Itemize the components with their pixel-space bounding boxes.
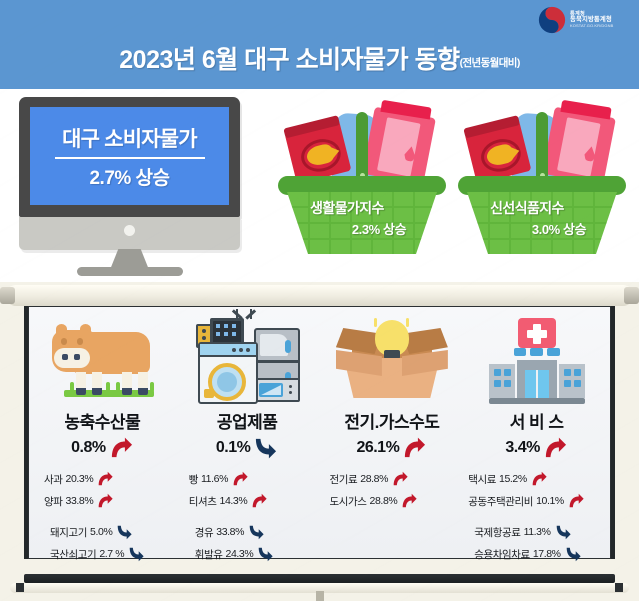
item-value: 14.3%	[220, 495, 248, 507]
milk-carton-icon	[542, 107, 616, 186]
column-value: 0.1%	[216, 439, 250, 457]
item-name: 돼지고기	[50, 525, 87, 540]
monitor-foot	[77, 267, 183, 276]
arrow-up-icon	[250, 492, 268, 510]
column-main-value-row: 26.1%	[320, 435, 465, 461]
list-item: 휘발유 24.3%	[189, 545, 320, 563]
item-name: 티셔츠	[189, 494, 217, 509]
item-name: 경유	[195, 525, 214, 540]
living-price-index-basket: 생활물가지수 2.3% 상승	[277, 104, 447, 254]
column-value: 26.1%	[356, 439, 399, 457]
arrow-up-icon	[400, 492, 418, 510]
government-logo: 통계청 동북지방통계청 KOSTAT.GO.KR/DGNB	[537, 3, 631, 37]
basket-body	[287, 192, 437, 254]
column-title: 전기.가스수도	[320, 408, 465, 433]
item-name: 휘발유	[195, 547, 223, 562]
column-items: 택시료 15.2% 공동주택관리비 10.1% 국제항공료 11.3%	[464, 470, 609, 563]
monitor-bezel: 대구 소비자물가 2.7% 상승	[19, 97, 240, 217]
item-value: 5.0%	[90, 526, 112, 538]
cow-icon	[30, 312, 175, 404]
list-item: 경유 33.8%	[189, 523, 320, 541]
list-item: 승용차임차료 17.8%	[468, 545, 609, 563]
hospital-icon	[464, 312, 609, 404]
column-value: 0.8%	[71, 439, 105, 457]
roller-cap-left	[0, 287, 15, 304]
item-name: 공동주택관리비	[468, 494, 533, 509]
header-band: 통계청 동북지방통계청 KOSTAT.GO.KR/DGNB 2023년 6월 대…	[0, 0, 639, 89]
column-agriculture-livestock-fisheries: 농축수산물 0.8% 사과 20.3% 양파 33.8%	[30, 308, 175, 557]
arrow-up-icon	[391, 470, 409, 488]
infographic-page: 통계청 동북지방통계청 KOSTAT.GO.KR/DGNB 2023년 6월 대…	[0, 0, 639, 601]
item-value: 17.8%	[533, 548, 561, 560]
panel-stand	[316, 591, 324, 601]
milk-carton-icon	[362, 107, 436, 186]
basket-handle-icon	[536, 112, 548, 186]
column-main-value-row: 0.8%	[30, 435, 175, 461]
list-item: 티셔츠 14.3%	[189, 492, 320, 510]
column-title: 농축수산물	[30, 408, 175, 433]
page-title: 2023년 6월 대구 소비자물가 동향(전년동월대비)	[0, 40, 639, 76]
item-name: 양파	[44, 494, 63, 509]
column-items: 빵 11.6% 티셔츠 14.3% 경유 33.8%	[175, 470, 320, 563]
column-value: 3.4%	[505, 439, 539, 457]
column-items: 전기료 28.8% 도시가스 28.8%	[320, 470, 465, 510]
list-item: 국제항공료 11.3%	[468, 523, 609, 541]
item-value: 20.3%	[66, 473, 94, 485]
item-name: 택시료	[468, 472, 496, 487]
item-name: 사과	[44, 472, 63, 487]
arrow-down-icon	[252, 435, 278, 461]
column-items: 사과 20.3% 양파 33.8% 돼지고기 5.0%	[30, 470, 175, 563]
list-item: 양파 33.8%	[44, 492, 175, 510]
list-item: 공동주택관리비 10.1%	[468, 492, 609, 510]
roller-cap-right	[624, 287, 639, 304]
arrow-up-icon	[530, 470, 548, 488]
column-main-value-row: 0.1%	[175, 435, 320, 461]
base-cap-left	[16, 583, 24, 592]
category-columns: 농축수산물 0.8% 사과 20.3% 양파 33.8%	[30, 308, 609, 557]
base-cap-right	[615, 583, 623, 592]
column-title: 공업제품	[175, 408, 320, 433]
arrow-up-icon	[567, 492, 585, 510]
arrow-up-icon	[231, 470, 249, 488]
item-value: 33.8%	[216, 526, 244, 538]
basket-handle-icon	[356, 112, 368, 186]
list-item: 사과 20.3%	[44, 470, 175, 488]
item-name: 전기료	[330, 472, 358, 487]
arrow-up-icon	[96, 492, 114, 510]
list-item: 빵 11.6%	[189, 470, 320, 488]
arrow-down-icon	[127, 545, 145, 563]
item-value: 28.8%	[370, 495, 398, 507]
arrow-down-icon	[247, 523, 265, 541]
item-name: 국산쇠고기	[50, 547, 96, 562]
daegu-cpi-monitor: 대구 소비자물가 2.7% 상승	[19, 97, 240, 280]
appliances-icon	[175, 312, 320, 404]
item-name: 승용차임차료	[474, 547, 530, 562]
item-value: 11.3%	[524, 526, 551, 538]
item-value: 11.6%	[201, 473, 228, 485]
monitor-headline: 대구 소비자물가	[62, 123, 197, 153]
monitor-value: 2.7% 상승	[89, 163, 169, 190]
list-item: 국산쇠고기 2.7 %	[44, 545, 175, 563]
column-services: 서 비 스 3.4% 택시료 15.2% 공동주택관리비 10.1%	[464, 308, 609, 557]
list-item: 전기료 28.8%	[330, 470, 465, 488]
monitor-power-dot-icon	[124, 225, 135, 236]
title-main: 2023년 6월 대구 소비자물가 동향	[119, 46, 459, 74]
column-main-value-row: 3.4%	[464, 435, 609, 461]
logo-line3: KOSTAT.GO.KR/DGNB	[570, 24, 613, 28]
item-value: 28.8%	[360, 473, 388, 485]
arrow-up-icon	[96, 470, 114, 488]
item-name: 빵	[189, 472, 198, 487]
item-name: 국제항공료	[474, 525, 520, 540]
item-value: 2.7 %	[99, 548, 124, 560]
item-value: 15.2%	[499, 473, 527, 485]
title-sub: (전년동월대비)	[460, 57, 520, 69]
rollup-banner-panel: 농축수산물 0.8% 사과 20.3% 양파 33.8%	[0, 282, 639, 601]
fresh-food-index-basket: 신선식품지수 3.0% 상승	[457, 104, 627, 254]
item-name: 도시가스	[330, 494, 367, 509]
column-title: 서 비 스	[464, 408, 609, 433]
item-value: 24.3%	[226, 548, 254, 560]
list-item: 도시가스 28.8%	[330, 492, 465, 510]
list-item: 택시료 15.2%	[468, 470, 609, 488]
arrow-up-icon	[108, 435, 134, 461]
column-industrial-products: 공업제품 0.1% 빵 11.6% 티셔츠 14.3%	[175, 308, 320, 557]
taegeuk-icon	[537, 5, 567, 35]
item-value: 33.8%	[66, 495, 94, 507]
arrow-up-icon	[542, 435, 568, 461]
roller-bar-top	[6, 285, 633, 306]
list-item: 돼지고기 5.0%	[44, 523, 175, 541]
arrow-down-icon	[564, 545, 582, 563]
monitor-screen: 대구 소비자물가 2.7% 상승	[30, 107, 229, 205]
panel-bottom-bar	[24, 574, 615, 583]
box-lightbulb-icon	[320, 312, 465, 404]
arrow-down-icon	[115, 523, 133, 541]
item-value: 10.1%	[536, 495, 564, 507]
arrow-down-icon	[256, 545, 274, 563]
basket-body	[467, 192, 617, 254]
arrow-up-icon	[401, 435, 427, 461]
arrow-down-icon	[554, 523, 572, 541]
column-electricity-gas-water: 전기.가스수도 26.1% 전기료 28.8% 도시가스 28.8%	[320, 308, 465, 557]
monitor-divider	[55, 157, 205, 159]
